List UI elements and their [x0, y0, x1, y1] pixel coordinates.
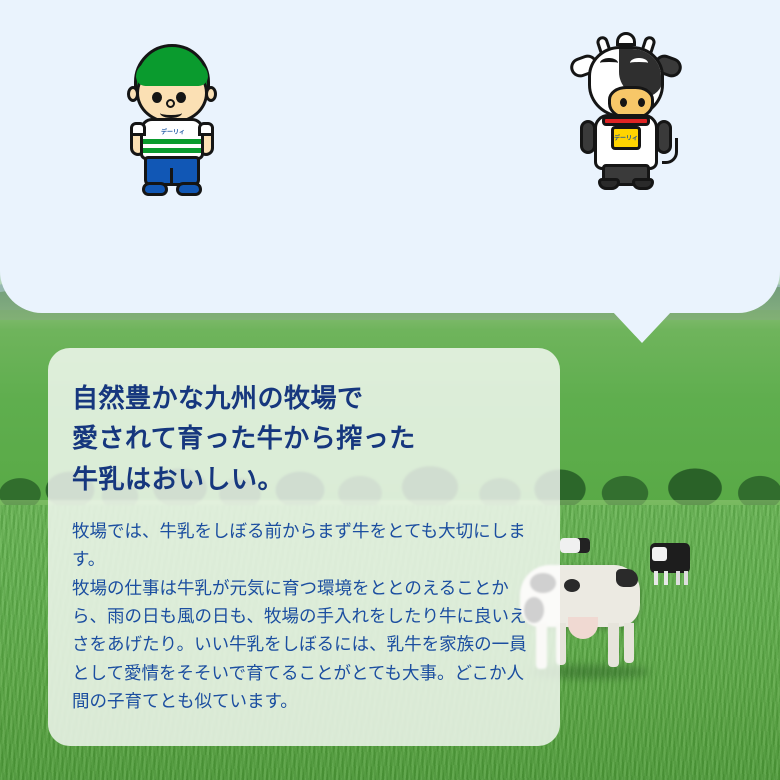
photo-cow-mid: [650, 543, 690, 573]
cow-mascot: デーリィ: [556, 28, 696, 198]
cow-leg: [624, 623, 634, 663]
shirt-stripe: [143, 139, 201, 144]
cow-udder: [568, 617, 598, 639]
cow-hoof-right: [632, 178, 654, 190]
card-paragraph-2: 牧場の仕事は牛乳が元気に育つ環境をととのえることから、雨の日も風の日も、牧場の手…: [72, 574, 532, 716]
card-heading: 自然豊かな九州の牧場で 愛されて育った牛から搾った 牛乳はおいしい。: [72, 378, 532, 499]
cow-head-tuft: [616, 32, 636, 46]
cow-leg: [608, 623, 619, 667]
boy-sleeve-left: [130, 122, 146, 136]
boy-shorts-seam: [170, 168, 173, 186]
card-body: 牧場では、牛乳をしぼる前からまず牛をとても大切にします。 牧場の仕事は牛乳が元気…: [72, 517, 532, 715]
page-root: ミルクでつなぐ明日の笑顔 airy 南日本酪農協同株式会社 当店のMILKについ…: [0, 0, 780, 780]
boy-sleeve-right: [198, 122, 214, 136]
boy-eye-left: [152, 92, 162, 103]
boy-shirt: デーリィ: [140, 118, 204, 160]
cow-eye-right: [630, 58, 648, 68]
cow-collar: [602, 116, 650, 126]
cow-tail: [662, 138, 678, 164]
card-paragraph-1: 牧場では、牛乳をしぼる前からまず牛をとても大切にします。: [72, 517, 532, 574]
boy-mouth: [160, 108, 182, 118]
card-heading-line-1: 自然豊かな九州の牧場で: [72, 378, 532, 418]
photo-cow-distant: [560, 538, 590, 553]
content-card: 自然豊かな九州の牧場で 愛されて育った牛から搾った 牛乳はおいしい。 牧場では、…: [48, 348, 560, 746]
cow-spot: [564, 579, 580, 592]
cow-nostril-right: [638, 98, 645, 107]
boy-shoe-right: [176, 182, 202, 196]
card-heading-line-3: 牛乳はおいしい。: [72, 459, 532, 499]
cow-eye-left: [600, 58, 618, 68]
cow-nostril-left: [620, 98, 627, 107]
card-heading-line-2: 愛されて育った牛から搾った: [72, 418, 532, 458]
boy-nose: [166, 99, 175, 108]
boy-mascot: デーリィ: [112, 44, 232, 194]
cow-spot: [616, 569, 638, 587]
cow-hoof-left: [598, 178, 620, 190]
cow-name-tag: デーリィ: [611, 126, 641, 150]
boy-fringe: [136, 62, 208, 86]
shirt-stripe: [143, 148, 201, 153]
boy-shoe-left: [142, 182, 168, 196]
boy-eye-right: [176, 92, 186, 103]
speech-bubble-tail: [612, 311, 672, 343]
shirt-brand-text: デーリィ: [161, 127, 185, 136]
